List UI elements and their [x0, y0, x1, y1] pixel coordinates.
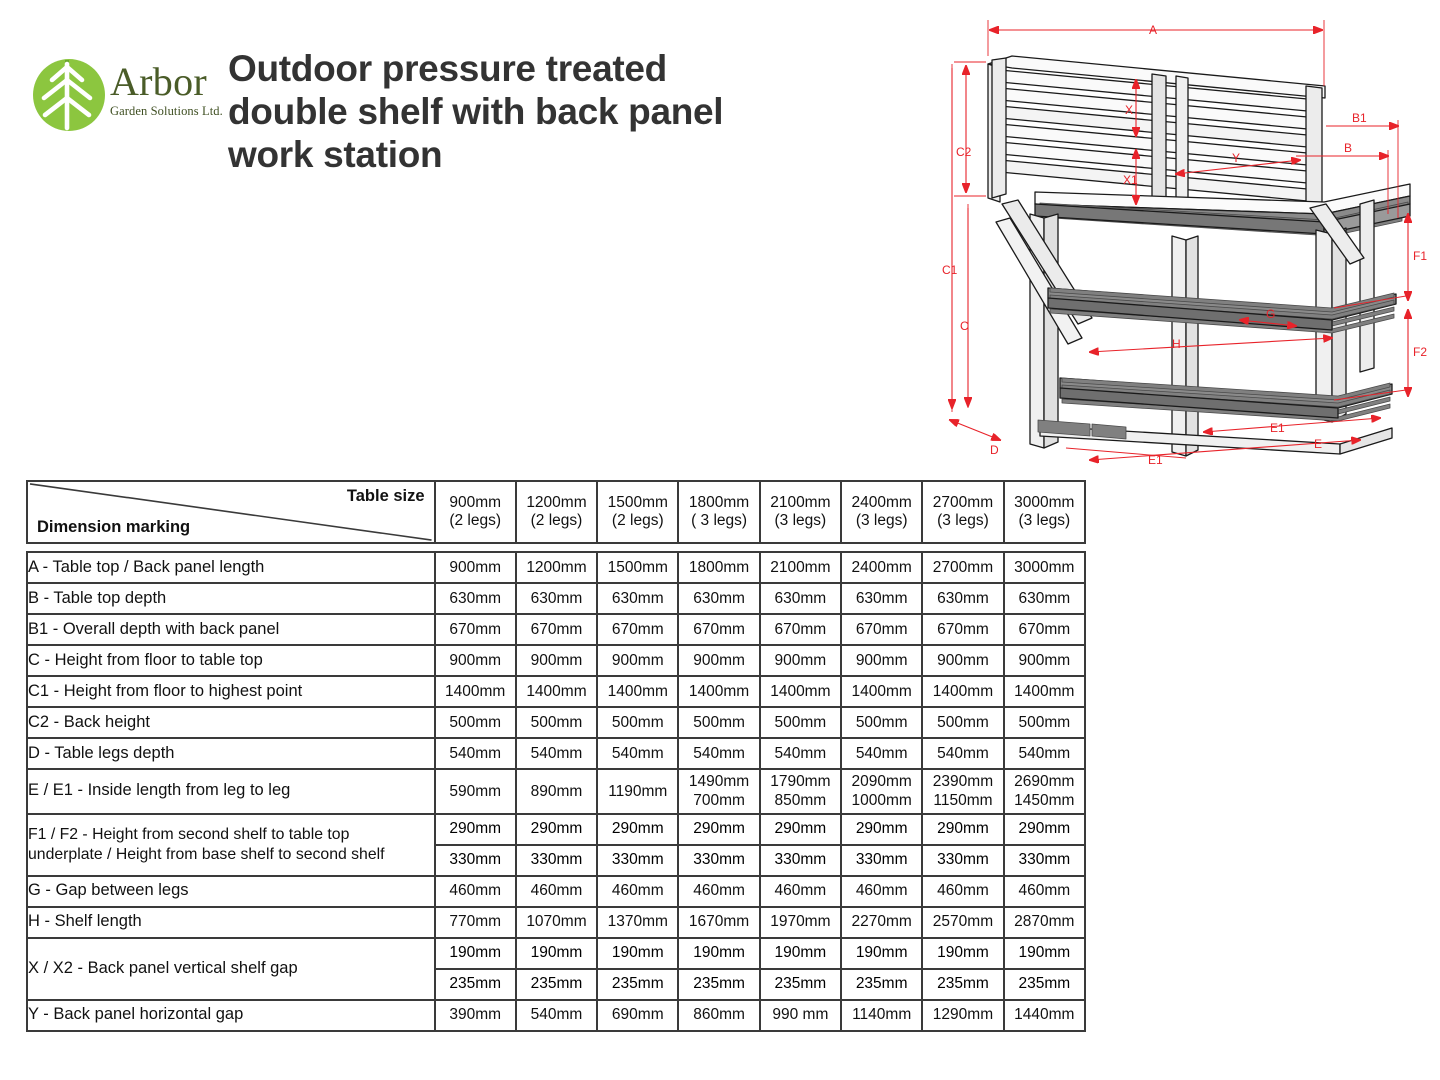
column-size-2: 1500mm — [608, 494, 668, 511]
cell-split0-2: 290mm330mm — [597, 814, 678, 876]
dim-label-D: D — [990, 443, 999, 457]
row-label-b1: H - Shelf length — [27, 907, 435, 938]
cell-split1-5-top: 190mm — [842, 939, 921, 969]
cell-b0-7: 460mm — [1004, 876, 1085, 907]
cell-b1-7: 2870mm — [1004, 907, 1085, 938]
cell-a0-5: 2400mm — [841, 552, 922, 583]
cell-split0-7-top: 290mm — [1005, 815, 1084, 845]
cell-b2-3: 860mm — [678, 1000, 759, 1031]
column-header-1: 1200mm (2 legs) — [516, 481, 597, 543]
row-label-a5: C2 - Back height — [27, 707, 435, 738]
column-size-5: 2400mm — [852, 494, 912, 511]
cell-split0-0-bottom: 330mm — [436, 845, 515, 875]
cell-a2-0: 670mm — [435, 614, 516, 645]
column-header-7: 3000mm (3 legs) — [1004, 481, 1085, 543]
dim-label-X1: X1 — [1123, 173, 1138, 187]
cell-a1-5: 630mm — [841, 583, 922, 614]
title-line-3: work station — [228, 134, 888, 177]
cell-split0-3-top: 290mm — [679, 815, 758, 845]
cell-split0-6-top: 290mm — [923, 815, 1002, 845]
cell-a7-6: 2390mm1150mm — [922, 769, 1003, 814]
cell-b2-0: 390mm — [435, 1000, 516, 1031]
column-size-0: 900mm — [449, 494, 501, 511]
cell-a5-0: 500mm — [435, 707, 516, 738]
cell-b1-3: 1670mm — [678, 907, 759, 938]
column-size-7: 3000mm — [1014, 494, 1074, 511]
column-legs-2: (2 legs) — [598, 512, 677, 530]
cell-a1-1: 630mm — [516, 583, 597, 614]
cell-b0-2: 460mm — [597, 876, 678, 907]
cell-a2-6: 670mm — [922, 614, 1003, 645]
cell-b0-6: 460mm — [922, 876, 1003, 907]
cell-split0-5-top: 290mm — [842, 815, 921, 845]
dim-label-F2: F2 — [1413, 345, 1427, 359]
cell-b0-1: 460mm — [516, 876, 597, 907]
column-size-3: 1800mm — [689, 494, 749, 511]
cell-a2-1: 670mm — [516, 614, 597, 645]
cell-split1-5-bottom: 235mm — [842, 969, 921, 999]
cell-a0-3: 1800mm — [678, 552, 759, 583]
header: Arbor Garden Solutions Ltd. Outdoor pres… — [0, 0, 900, 210]
cell-a3-0: 900mm — [435, 645, 516, 676]
cell-split0-6: 290mm330mm — [922, 814, 1003, 876]
dim-label-B: B — [1344, 141, 1352, 155]
table-row: Y - Back panel horizontal gap390mm540mm6… — [27, 1000, 1085, 1031]
table-row: A - Table top / Back panel length900mm12… — [27, 552, 1085, 583]
spec-sheet-page: Arbor Garden Solutions Ltd. Outdoor pres… — [0, 0, 1440, 1080]
cell-split1-2-top: 190mm — [598, 939, 677, 969]
dim-label-C: C — [960, 319, 969, 333]
cell-split1-4-bottom: 235mm — [761, 969, 840, 999]
cell-a0-6: 2700mm — [922, 552, 1003, 583]
cell-a2-2: 670mm — [597, 614, 678, 645]
cell-a7-1: 890mm — [516, 769, 597, 814]
dim-label-B1: B1 — [1352, 111, 1367, 125]
cell-a6-2: 540mm — [597, 738, 678, 769]
cell-split1-7: 190mm235mm — [1004, 938, 1085, 1000]
table-row: F1 / F2 - Height from second shelf to ta… — [27, 814, 1085, 876]
cell-b0-3: 460mm — [678, 876, 759, 907]
cell-a6-7: 540mm — [1004, 738, 1085, 769]
cell-a4-1: 1400mm — [516, 676, 597, 707]
cell-split0-0: 290mm330mm — [435, 814, 516, 876]
row-label-split0: F1 / F2 - Height from second shelf to ta… — [27, 814, 435, 876]
cell-split1-3-bottom: 235mm — [679, 969, 758, 999]
column-header-0: 900mm (2 legs) — [435, 481, 516, 543]
cell-a2-3: 670mm — [678, 614, 759, 645]
column-header-3: 1800mm ( 3 legs) — [678, 481, 759, 543]
cell-split1-5: 190mm235mm — [841, 938, 922, 1000]
cell-a3-6: 900mm — [922, 645, 1003, 676]
cell-split1-7-top: 190mm — [1005, 939, 1084, 969]
cell-a7-2: 1190mm — [597, 769, 678, 814]
cell-a7-5: 2090mm1000mm — [841, 769, 922, 814]
row-label-a6: D - Table legs depth — [27, 738, 435, 769]
cell-split1-6-bottom: 235mm — [923, 969, 1002, 999]
title-line-2: double shelf with back panel — [228, 91, 888, 134]
table-row: X / X2 - Back panel vertical shelf gap19… — [27, 938, 1085, 1000]
table-row: C - Height from floor to table top900mm9… — [27, 645, 1085, 676]
table-row: B - Table top depth630mm630mm630mm630mm6… — [27, 583, 1085, 614]
cell-split0-7-bottom: 330mm — [1005, 845, 1084, 875]
cell-b1-2: 1370mm — [597, 907, 678, 938]
table-row: B1 - Overall depth with back panel670mm6… — [27, 614, 1085, 645]
cell-a2-5: 670mm — [841, 614, 922, 645]
cell-a0-7: 3000mm — [1004, 552, 1085, 583]
cell-a1-7: 630mm — [1004, 583, 1085, 614]
table-row: G - Gap between legs460mm460mm460mm460mm… — [27, 876, 1085, 907]
column-legs-4: (3 legs) — [761, 512, 840, 530]
cell-a2-7: 670mm — [1004, 614, 1085, 645]
cell-a7-3: 1490mm700mm — [678, 769, 759, 814]
cell-a4-2: 1400mm — [597, 676, 678, 707]
dim-label-G: G — [1266, 307, 1275, 321]
cell-b2-7: 1440mm — [1004, 1000, 1085, 1031]
column-legs-6: (3 legs) — [923, 512, 1002, 530]
cell-split0-6-bottom: 330mm — [923, 845, 1002, 875]
header-dimension-marking-label: Dimension marking — [37, 518, 190, 537]
cell-a3-1: 900mm — [516, 645, 597, 676]
cell-a6-5: 540mm — [841, 738, 922, 769]
cell-a6-4: 540mm — [760, 738, 841, 769]
column-legs-7: (3 legs) — [1005, 512, 1084, 530]
cell-split1-4-top: 190mm — [761, 939, 840, 969]
brand-name: Arbor — [110, 62, 240, 102]
cell-a0-2: 1500mm — [597, 552, 678, 583]
cell-b2-4: 990 mm — [760, 1000, 841, 1031]
column-header-6: 2700mm (3 legs) — [922, 481, 1003, 543]
page-title: Outdoor pressure treated double shelf wi… — [228, 48, 888, 177]
cell-a6-0: 540mm — [435, 738, 516, 769]
cell-split0-2-top: 290mm — [598, 815, 677, 845]
cell-split0-2-bottom: 330mm — [598, 845, 677, 875]
header-corner-cell: Table size Dimension marking — [27, 481, 435, 543]
cell-split1-7-bottom: 235mm — [1005, 969, 1084, 999]
table-header-row: Table size Dimension marking 900mm (2 le… — [27, 481, 1085, 543]
row-label-split1: X / X2 - Back panel vertical shelf gap — [27, 938, 435, 1000]
cell-a7-7: 2690mm1450mm — [1004, 769, 1085, 814]
cell-a6-3: 540mm — [678, 738, 759, 769]
row-label-a0: A - Table top / Back panel length — [27, 552, 435, 583]
cell-a5-7: 500mm — [1004, 707, 1085, 738]
column-legs-0: (2 legs) — [436, 512, 515, 530]
cell-split0-5-bottom: 330mm — [842, 845, 921, 875]
cell-b2-5: 1140mm — [841, 1000, 922, 1031]
table-row: D - Table legs depth540mm540mm540mm540mm… — [27, 738, 1085, 769]
cell-a1-3: 630mm — [678, 583, 759, 614]
product-technical-drawing: A C2 C1 C D X X1 Y B1 B F1 F2 G H E1 E E… — [940, 8, 1440, 478]
cell-a6-6: 540mm — [922, 738, 1003, 769]
cell-a1-2: 630mm — [597, 583, 678, 614]
cell-a3-2: 900mm — [597, 645, 678, 676]
cell-b2-2: 690mm — [597, 1000, 678, 1031]
column-size-4: 2100mm — [770, 494, 830, 511]
table-header-block: Table size Dimension marking 900mm (2 le… — [26, 480, 1086, 544]
dim-label-E1-lower: E1 — [1148, 453, 1163, 467]
cell-b2-6: 1290mm — [922, 1000, 1003, 1031]
dimensions-table: Table size Dimension marking 900mm (2 le… — [26, 480, 1086, 1032]
table-body: A - Table top / Back panel length900mm12… — [26, 551, 1086, 1032]
cell-a5-5: 500mm — [841, 707, 922, 738]
cell-a3-4: 900mm — [760, 645, 841, 676]
cell-b0-5: 460mm — [841, 876, 922, 907]
cell-b1-1: 1070mm — [516, 907, 597, 938]
title-line-1: Outdoor pressure treated — [228, 48, 888, 91]
column-header-2: 1500mm (2 legs) — [597, 481, 678, 543]
row-label-a1: B - Table top depth — [27, 583, 435, 614]
cell-a3-3: 900mm — [678, 645, 759, 676]
column-header-4: 2100mm (3 legs) — [760, 481, 841, 543]
cell-split1-1: 190mm235mm — [516, 938, 597, 1000]
cell-a5-3: 500mm — [678, 707, 759, 738]
column-size-6: 2700mm — [933, 494, 993, 511]
cell-split0-1-top: 290mm — [517, 815, 596, 845]
cell-split1-0-bottom: 235mm — [436, 969, 515, 999]
cell-a4-3: 1400mm — [678, 676, 759, 707]
cell-a6-1: 540mm — [516, 738, 597, 769]
cell-a4-0: 1400mm — [435, 676, 516, 707]
cell-a0-4: 2100mm — [760, 552, 841, 583]
table-row: C1 - Height from floor to highest point1… — [27, 676, 1085, 707]
cell-split0-0-top: 290mm — [436, 815, 515, 845]
cell-split1-1-bottom: 235mm — [517, 969, 596, 999]
row-label-a2: B1 - Overall depth with back panel — [27, 614, 435, 645]
cell-b0-4: 460mm — [760, 876, 841, 907]
cell-a3-5: 900mm — [841, 645, 922, 676]
column-size-1: 1200mm — [526, 494, 586, 511]
cell-split1-3: 190mm235mm — [678, 938, 759, 1000]
cell-a4-5: 1400mm — [841, 676, 922, 707]
dim-label-F1: F1 — [1413, 249, 1427, 263]
cell-a1-0: 630mm — [435, 583, 516, 614]
cell-split0-3-bottom: 330mm — [679, 845, 758, 875]
cell-split1-3-top: 190mm — [679, 939, 758, 969]
column-legs-3: ( 3 legs) — [679, 512, 758, 530]
cell-a5-6: 500mm — [922, 707, 1003, 738]
cell-a3-7: 900mm — [1004, 645, 1085, 676]
cell-b0-0: 460mm — [435, 876, 516, 907]
table-row: H - Shelf length770mm1070mm1370mm1670mm1… — [27, 907, 1085, 938]
cell-split1-4: 190mm235mm — [760, 938, 841, 1000]
cell-a1-4: 630mm — [760, 583, 841, 614]
dim-label-C1: C1 — [942, 263, 958, 277]
row-label-b0: G - Gap between legs — [27, 876, 435, 907]
cell-a5-4: 500mm — [760, 707, 841, 738]
cell-split1-6-top: 190mm — [923, 939, 1002, 969]
dim-label-X: X — [1125, 103, 1133, 117]
cell-split1-0: 190mm235mm — [435, 938, 516, 1000]
row-label-a3: C - Height from floor to table top — [27, 645, 435, 676]
cell-split0-4: 290mm330mm — [760, 814, 841, 876]
table-row: C2 - Back height500mm500mm500mm500mm500m… — [27, 707, 1085, 738]
cell-b2-1: 540mm — [516, 1000, 597, 1031]
brand-tagline: Garden Solutions Ltd. — [110, 105, 240, 118]
cell-split0-4-top: 290mm — [761, 815, 840, 845]
cell-a4-6: 1400mm — [922, 676, 1003, 707]
cell-a7-0: 590mm — [435, 769, 516, 814]
cell-a5-2: 500mm — [597, 707, 678, 738]
cell-b1-5: 2270mm — [841, 907, 922, 938]
leaf-logo-icon — [32, 58, 106, 132]
row-label-a7: E / E1 - Inside length from leg to leg — [27, 769, 435, 814]
column-legs-5: (3 legs) — [842, 512, 921, 530]
row-label-b2: Y - Back panel horizontal gap — [27, 1000, 435, 1031]
cell-a0-0: 900mm — [435, 552, 516, 583]
cell-b1-4: 1970mm — [760, 907, 841, 938]
brand-logo: Arbor Garden Solutions Ltd. — [32, 58, 207, 148]
cell-a5-1: 500mm — [516, 707, 597, 738]
cell-split0-5: 290mm330mm — [841, 814, 922, 876]
cell-split1-2: 190mm235mm — [597, 938, 678, 1000]
table-row: E / E1 - Inside length from leg to leg59… — [27, 769, 1085, 814]
dim-label-E: E — [1314, 437, 1322, 451]
dim-label-H: H — [1172, 337, 1181, 351]
cell-split0-1-bottom: 330mm — [517, 845, 596, 875]
cell-split1-2-bottom: 235mm — [598, 969, 677, 999]
cell-b1-0: 770mm — [435, 907, 516, 938]
cell-split1-1-top: 190mm — [517, 939, 596, 969]
dim-label-A: A — [1149, 23, 1157, 37]
dim-label-C2: C2 — [956, 145, 972, 159]
dim-label-E1-upper: E1 — [1270, 421, 1285, 435]
cell-b1-6: 2570mm — [922, 907, 1003, 938]
cell-a0-1: 1200mm — [516, 552, 597, 583]
cell-a2-4: 670mm — [760, 614, 841, 645]
cell-split1-6: 190mm235mm — [922, 938, 1003, 1000]
header-table-size-label: Table size — [347, 487, 425, 506]
cell-split0-7: 290mm330mm — [1004, 814, 1085, 876]
column-header-5: 2400mm (3 legs) — [841, 481, 922, 543]
cell-a7-4: 1790mm850mm — [760, 769, 841, 814]
cell-a4-4: 1400mm — [760, 676, 841, 707]
cell-split0-3: 290mm330mm — [678, 814, 759, 876]
dim-label-Y: Y — [1232, 151, 1240, 165]
cell-split1-0-top: 190mm — [436, 939, 515, 969]
column-legs-1: (2 legs) — [517, 512, 596, 530]
cell-a4-7: 1400mm — [1004, 676, 1085, 707]
cell-a1-6: 630mm — [922, 583, 1003, 614]
row-label-a4: C1 - Height from floor to highest point — [27, 676, 435, 707]
cell-split0-1: 290mm330mm — [516, 814, 597, 876]
cell-split0-4-bottom: 330mm — [761, 845, 840, 875]
